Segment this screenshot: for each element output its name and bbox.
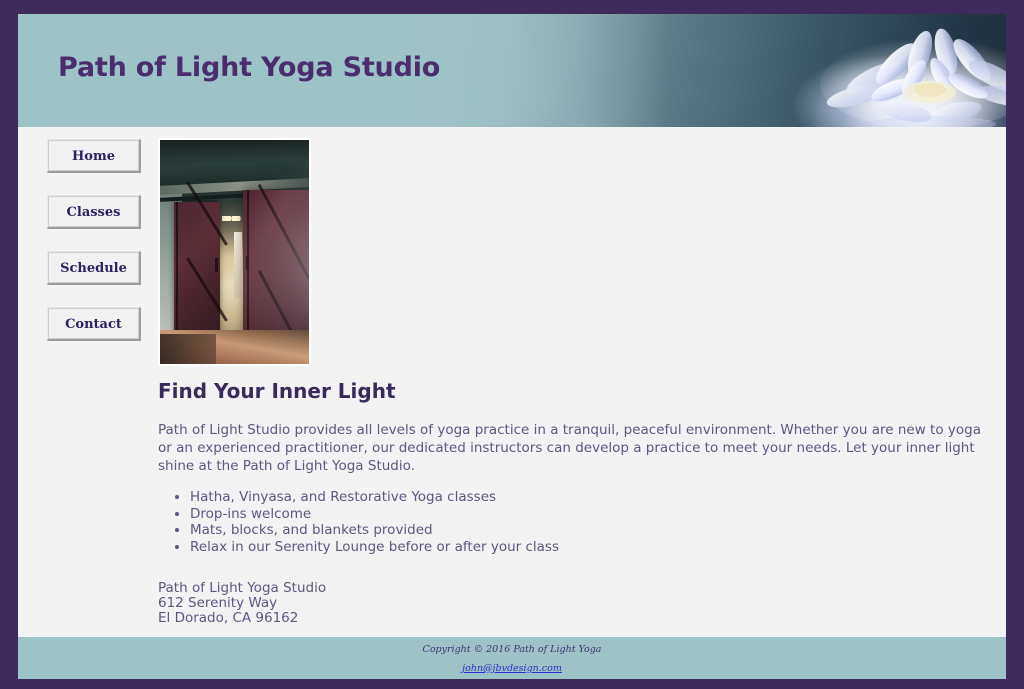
list-item: Drop-ins welcome [190, 506, 988, 523]
list-item: Hatha, Vinyasa, and Restorative Yoga cla… [190, 489, 988, 506]
address-city-state-zip: El Dorado, CA 96162 [158, 611, 988, 626]
main-text-block: Find Your Inner Light Path of Light Stud… [158, 379, 988, 659]
barn-doors-photo [158, 138, 311, 366]
main-content-area: Home Classes Schedule Contact [18, 127, 1006, 637]
list-item: Relax in our Serenity Lounge before or a… [190, 539, 988, 556]
site-footer: Copyright © 2016 Path of Light Yoga john… [18, 637, 1006, 679]
footer-email-link[interactable]: john@jbvdesign.com [462, 663, 562, 675]
feature-list: Hatha, Vinyasa, and Restorative Yoga cla… [158, 489, 988, 555]
nav-item-home[interactable]: Home [47, 139, 141, 173]
nav-item-schedule[interactable]: Schedule [47, 251, 141, 285]
lotus-flower-icon [796, 20, 1006, 127]
photo-light-haze [160, 140, 309, 364]
nav-item-contact[interactable]: Contact [47, 307, 141, 341]
page-heading: Find Your Inner Light [158, 379, 988, 403]
page-outer-frame: Path of Light Yoga Studio Home Classes S… [0, 0, 1024, 689]
site-title: Path of Light Yoga Studio [58, 52, 440, 83]
intro-paragraph: Path of Light Studio provides all levels… [158, 421, 986, 475]
studio-address: Path of Light Yoga Studio 612 Serenity W… [158, 581, 988, 626]
site-banner: Path of Light Yoga Studio [18, 14, 1006, 127]
main-navigation: Home Classes Schedule Contact [47, 139, 151, 363]
address-studio-name: Path of Light Yoga Studio [158, 581, 988, 596]
footer-copyright: Copyright © 2016 Path of Light Yoga [18, 644, 1006, 656]
nav-item-classes[interactable]: Classes [47, 195, 141, 229]
address-street: 612 Serenity Way [158, 596, 988, 611]
page-container: Path of Light Yoga Studio Home Classes S… [18, 14, 1006, 679]
lotus-flower-photo [366, 14, 1006, 127]
list-item: Mats, blocks, and blankets provided [190, 522, 988, 539]
